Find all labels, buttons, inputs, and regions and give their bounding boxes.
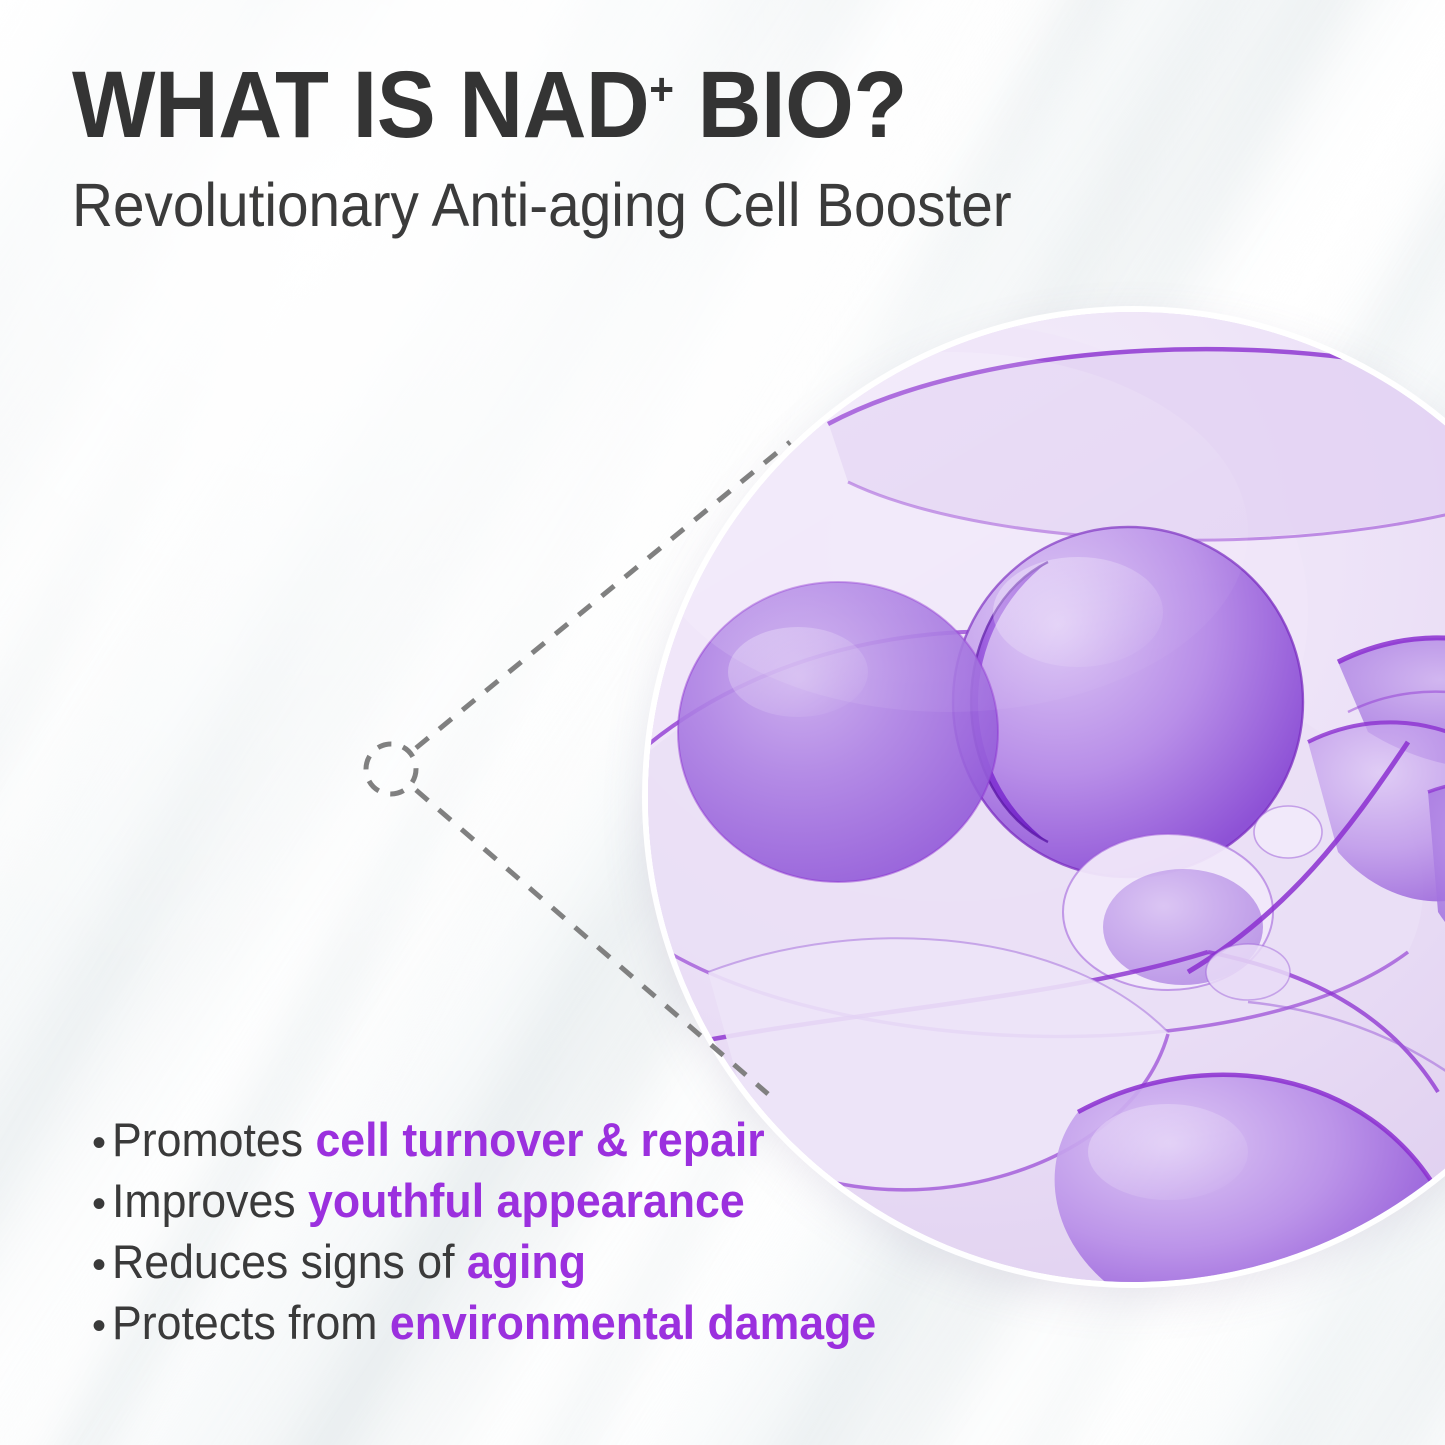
list-item: • Promotes cell turnover & repair — [92, 1112, 992, 1171]
benefits-list: • Promotes cell turnover & repair • Impr… — [92, 1112, 992, 1356]
bullet-line-1: Promotes cell turnover & repair — [112, 1112, 765, 1168]
bullet-line-2: Improves youthful appearance — [112, 1173, 745, 1229]
list-item: • Improves youthful appearance — [92, 1173, 992, 1232]
page-subtitle: Revolutionary Anti-aging Cell Booster — [72, 175, 1142, 236]
list-item: • Protects from environmental damage — [92, 1295, 992, 1354]
bullet-dot-icon: • — [92, 1115, 112, 1171]
bullet-line-3: Reduces signs of aging — [112, 1234, 586, 1290]
title-main-text: WHAT IS NAD — [72, 52, 649, 158]
bullet-3-plain: Reduces signs of — [112, 1235, 467, 1288]
title-superscript-plus: + — [649, 63, 673, 114]
promo-infographic: WHAT IS NAD+ BIO? Revolutionary Anti-agi… — [0, 0, 1445, 1445]
bullet-1-highlight: cell turnover & repair — [315, 1113, 764, 1166]
title-tail-text: BIO? — [674, 52, 907, 158]
bullet-dot-icon: • — [92, 1176, 112, 1232]
bullet-3-highlight: aging — [467, 1235, 586, 1288]
bullet-4-plain: Protects from — [112, 1296, 390, 1349]
bullet-2-highlight: youthful appearance — [308, 1174, 745, 1227]
bullet-2-plain: Improves — [112, 1174, 308, 1227]
bullet-line-4: Protects from environmental damage — [112, 1295, 876, 1351]
list-item: • Reduces signs of aging — [92, 1234, 992, 1293]
page-title: WHAT IS NAD+ BIO? — [72, 58, 1142, 153]
bullet-dot-icon: • — [92, 1237, 112, 1293]
header-block: WHAT IS NAD+ BIO? Revolutionary Anti-agi… — [72, 58, 1222, 236]
bullet-dot-icon: • — [92, 1298, 112, 1354]
bullet-1-plain: Promotes — [112, 1113, 315, 1166]
bullet-4-highlight: environmental damage — [390, 1296, 876, 1349]
